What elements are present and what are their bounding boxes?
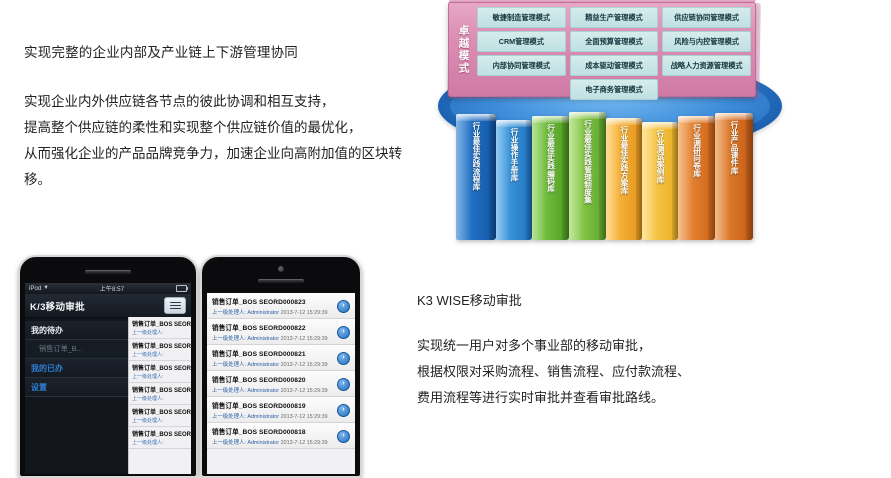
order-time: 2013-7-12 15:29:39 [281, 362, 328, 368]
list-item-subtitle: 上一级处理人: [132, 417, 188, 424]
order-handler-label: 上一级处理人: [212, 388, 246, 394]
order-row[interactable]: 销售订单_BOS SEORD000818 上一级处理人: Administrat… [207, 423, 355, 449]
list-item[interactable]: 销售订单_BOS SEORD000820 上一级处理人: [129, 383, 191, 405]
carrier-label: iPod [29, 285, 41, 292]
order-time: 2013-7-12 15:29:39 [281, 440, 328, 446]
phone-screenshots: iPod ▾ 上午8:57 K/3移动审批 我的待办 (38) › [18, 255, 358, 474]
book-spine: 行业产品课件库 [715, 113, 753, 240]
order-handler-label: 上一级处理人: [212, 414, 246, 420]
model-chip-grid: 敏捷制造管理模式 精益生产管理模式 供应链协同管理模式 CRM管理模式 全面预算… [477, 7, 751, 92]
status-bar: iPod ▾ 上午8:57 [25, 283, 191, 294]
arrow-icon[interactable]: › [337, 352, 350, 365]
book-title: 行业最佳实践管理制度集 [583, 120, 593, 204]
description-line: 根据权限对采购流程、销售流程、应付款流程、 [417, 359, 837, 385]
status-bar-time: 上午8:57 [100, 284, 124, 293]
order-handler-label: 上一级处理人: [212, 310, 246, 316]
order-handler-label: 上一级处理人: [212, 440, 246, 446]
book-gloss [715, 113, 730, 240]
order-handler-label: 上一级处理人: [212, 336, 246, 342]
order-meta: 上一级处理人: Administrator 2013-7-12 15:29:39 [212, 438, 350, 446]
book-spine: 行业最佳实践方案库 [606, 118, 642, 240]
description-heading: K3 WISE移动审批 [417, 290, 837, 309]
book-title: 行业产品课件库 [729, 121, 739, 174]
camera-icon [278, 266, 284, 272]
order-handler: Administrator [247, 388, 279, 394]
book-title: 行业最佳实践编码库 [546, 124, 556, 192]
order-title: 销售订单_BOS SEORD000819 [212, 400, 350, 410]
order-meta: 上一级处理人: Administrator 2013-7-12 15:29:39 [212, 386, 350, 394]
model-chip: 全面预算管理模式 [570, 31, 659, 52]
description-line: 实现统一用户对多个事业部的移动审批， [417, 333, 837, 359]
order-row[interactable]: 销售订单_BOS SEORD000821 上一级处理人: Administrat… [207, 345, 355, 371]
phone-speaker [85, 270, 131, 274]
book-spine: 行业操作手册库 [496, 120, 532, 240]
order-handler: Administrator [247, 336, 279, 342]
order-row[interactable]: 销售订单_BOS SEORD000822 上一级处理人: Administrat… [207, 319, 355, 345]
arrow-icon[interactable]: › [337, 378, 350, 391]
order-handler-label: 上一级处理人: [212, 362, 246, 368]
arrow-icon[interactable]: › [337, 430, 350, 443]
order-meta: 上一级处理人: Administrator 2013-7-12 15:29:39 [212, 334, 350, 342]
list-item[interactable]: 销售订单_BOS SEORD000821 上一级处理人: [129, 361, 191, 383]
model-panel-label: 卓越模式 [451, 7, 477, 92]
book-title: 行业调研问卷库 [692, 124, 702, 177]
battery-icon [176, 285, 187, 292]
order-title: 销售订单_BOS SEORD000818 [212, 426, 350, 436]
book-spine: 行业调研问卷库 [678, 116, 715, 240]
list-item-title: 销售订单_BOS SEORD000823 [132, 319, 188, 328]
list-item-title: 销售订单_BOS SEORD000818 [132, 429, 188, 438]
intro-text-block: 实现完整的企业内部及产业链上下游管理协同 实现企业内外供应链各节点的彼此协调和相… [24, 44, 434, 193]
order-meta: 上一级处理人: Administrator 2013-7-12 15:29:39 [212, 360, 350, 368]
book-title: 行业最佳实践流程库 [471, 122, 481, 190]
arrow-icon[interactable]: › [337, 404, 350, 417]
order-title: 销售订单_BOS SEORD000820 [212, 374, 350, 384]
model-chip: 成本驱动管理模式 [570, 55, 659, 76]
order-meta: 上一级处理人: Administrator 2013-7-12 15:29:39 [212, 412, 350, 420]
order-time: 2013-7-12 15:29:39 [281, 414, 328, 420]
intro-body: 实现企业内外供应链各节点的彼此协调和相互支持， 提高整个供应链的柔性和实现整个供… [24, 89, 434, 193]
order-time: 2013-7-12 15:29:39 [281, 310, 328, 316]
book-shelf: 行业最佳实践流程库 行业操作手册库 行业最佳实践编码库 行业最佳实践管理制度集 [456, 108, 772, 240]
book-spine: 行业最佳实践流程库 [456, 114, 496, 240]
book-edge [746, 113, 753, 240]
order-handler: Administrator [247, 440, 279, 446]
phone-device-right: 销售订单_BOS SEORD000823 上一级处理人: Administrat… [200, 255, 362, 478]
list-item[interactable]: 销售订单_BOS SEORD000822 上一级处理人: [129, 339, 191, 361]
order-row[interactable]: 销售订单_BOS SEORD000820 上一级处理人: Administrat… [207, 371, 355, 397]
arrow-icon[interactable]: › [337, 300, 350, 313]
order-time: 2013-7-12 15:29:39 [281, 336, 328, 342]
phone-device-left: iPod ▾ 上午8:57 K/3移动审批 我的待办 (38) › [18, 255, 198, 478]
model-chip: CRM管理模式 [477, 31, 566, 52]
list-item-subtitle: 上一级处理人: [132, 395, 188, 402]
status-bar-left: iPod ▾ [29, 285, 48, 292]
list-item-subtitle: 上一级处理人: [132, 439, 188, 446]
intro-line: 实现企业内外供应链各节点的彼此协调和相互支持， [24, 89, 434, 115]
order-row[interactable]: 销售订单_BOS SEORD000823 上一级处理人: Administrat… [207, 293, 355, 319]
intro-line: 提高整个供应链的柔性和实现整个供应链价值的最优化， [24, 115, 434, 141]
book-edge [708, 116, 715, 240]
phone-speaker [258, 279, 304, 283]
book-gloss [456, 114, 472, 240]
order-title: 销售订单_BOS SEORD000823 [212, 296, 350, 306]
description-body: 实现统一用户对多个事业部的移动审批， 根据权限对采购流程、销售流程、应付款流程、… [417, 333, 837, 411]
list-item-subtitle: 上一级处理人: [132, 373, 188, 380]
model-chip: 战略人力资源管理模式 [662, 55, 751, 76]
order-time: 2013-7-12 15:29:39 [281, 388, 328, 394]
order-row[interactable]: 销售订单_BOS SEORD000819 上一级处理人: Administrat… [207, 397, 355, 423]
background-order-list[interactable]: 销售订单_BOS SEORD000823 上一级处理人: 销售订单_BOS SE… [128, 317, 191, 474]
book-title: 行业测试案例库 [655, 130, 665, 183]
wifi-icon: ▾ [44, 285, 47, 292]
model-chip: 供应链协同管理模式 [662, 7, 751, 28]
app-header: K/3移动审批 [25, 294, 191, 318]
model-chip: 内部协同管理模式 [477, 55, 566, 76]
intro-line: 移。 [24, 167, 434, 193]
list-item-title: 销售订单_BOS SEORD000819 [132, 407, 188, 416]
order-meta: 上一级处理人: Administrator 2013-7-12 15:29:39 [212, 308, 350, 316]
intro-heading: 实现完整的企业内部及产业链上下游管理协同 [24, 44, 434, 63]
hamburger-icon[interactable] [164, 297, 186, 314]
phone-left-screen: iPod ▾ 上午8:57 K/3移动审批 我的待办 (38) › [25, 283, 191, 474]
intro-line: 从而强化企业的产品品牌竞争力，加速企业向高附加值的区块转 [24, 141, 434, 167]
list-item-title: 销售订单_BOS SEORD000822 [132, 341, 188, 350]
book-edge [599, 112, 606, 240]
order-title: 销售订单_BOS SEORD000821 [212, 348, 350, 358]
list-item[interactable]: 销售订单_BOS SEORD000818 上一级处理人: [129, 427, 191, 449]
book-spine: 行业测试案例库 [642, 122, 678, 240]
model-chip: 风险与内控管理模式 [662, 31, 751, 52]
list-item[interactable]: 销售订单_BOS SEORD000819 上一级处理人: [129, 405, 191, 427]
model-chip: 精益生产管理模式 [570, 7, 659, 28]
app-title: K/3移动审批 [30, 299, 85, 313]
list-item-subtitle: 上一级处理人: [132, 351, 188, 358]
excellence-model-panel: 卓越模式 敏捷制造管理模式 精益生产管理模式 供应链协同管理模式 CRM管理模式… [448, 2, 756, 97]
model-chip: 电子商务管理模式 [570, 79, 659, 100]
order-title: 销售订单_BOS SEORD000822 [212, 322, 350, 332]
description-block: K3 WISE移动审批 实现统一用户对多个事业部的移动审批， 根据权限对采购流程… [417, 290, 837, 411]
knowledge-library-graphic: 卓越模式 敏捷制造管理模式 精益生产管理模式 供应链协同管理模式 CRM管理模式… [440, 0, 780, 250]
arrow-icon[interactable]: › [337, 326, 350, 339]
book-title: 行业操作手册库 [509, 128, 519, 181]
order-handler: Administrator [247, 310, 279, 316]
description-line: 费用流程等进行实时审批并查看审批路线。 [417, 385, 837, 411]
model-chip: 敏捷制造管理模式 [477, 7, 566, 28]
list-item[interactable]: 销售订单_BOS SEORD000823 上一级处理人: [129, 317, 191, 339]
book-edge [489, 114, 496, 240]
phone-right-screen[interactable]: 销售订单_BOS SEORD000823 上一级处理人: Administrat… [207, 293, 355, 474]
list-item-title: 销售订单_BOS SEORD000821 [132, 363, 188, 372]
list-item-title: 销售订单_BOS SEORD000820 [132, 385, 188, 394]
book-title: 行业最佳实践方案库 [619, 126, 629, 194]
slide-page: 实现完整的企业内部及产业链上下游管理协同 实现企业内外供应链各节点的彼此协调和相… [0, 0, 891, 474]
book-edge [562, 116, 569, 240]
order-handler: Administrator [247, 414, 279, 420]
book-spine: 行业最佳实践管理制度集 [569, 112, 606, 240]
list-item-subtitle: 上一级处理人: [132, 329, 188, 336]
order-handler: Administrator [247, 362, 279, 368]
book-spine: 行业最佳实践编码库 [532, 116, 569, 240]
